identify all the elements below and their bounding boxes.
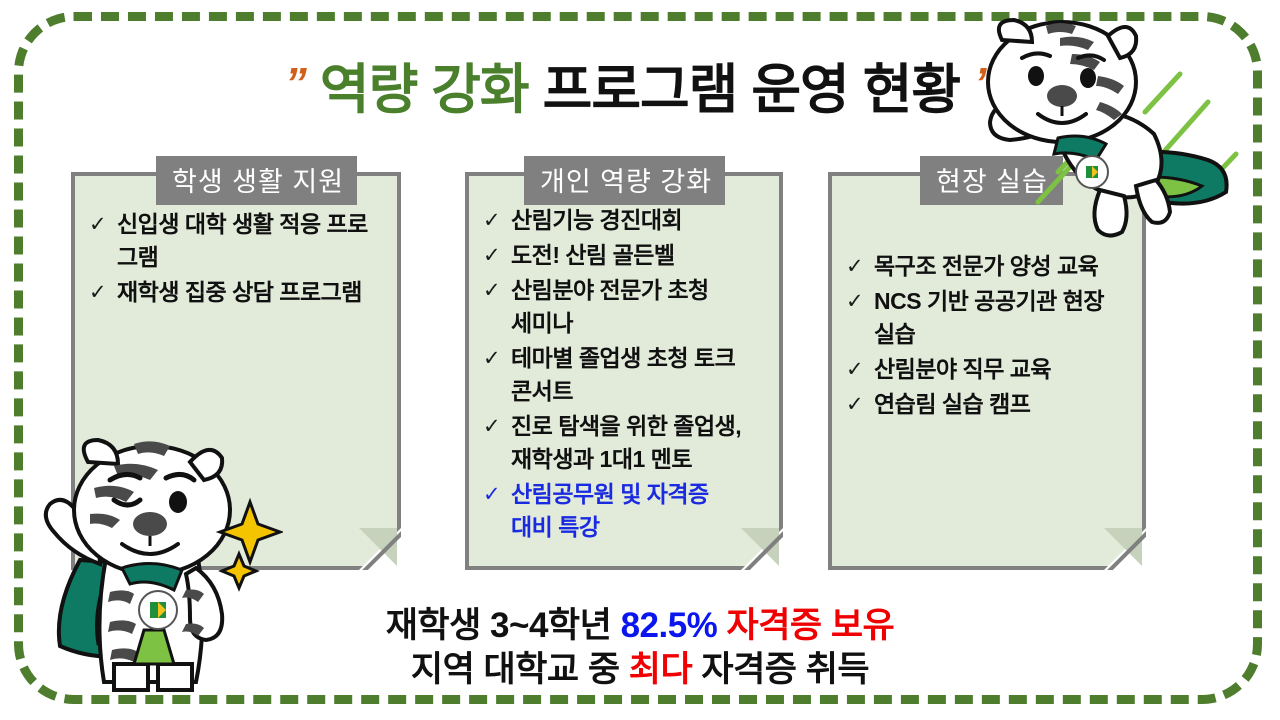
tiger-nose — [133, 512, 167, 536]
tiger-nose — [1047, 85, 1077, 107]
check-icon: ✓ — [483, 478, 511, 511]
card-header-student-life-support: 학생 생활 지원 — [156, 156, 357, 205]
bottom-line2-highlight: 최다 — [629, 650, 692, 689]
tiger-eye — [1080, 68, 1096, 88]
list-item: ✓ NCS 기반 공공기관 현장 실습 — [846, 285, 1128, 351]
check-icon: ✓ — [483, 239, 511, 272]
check-icon: ✓ — [483, 410, 511, 443]
card-header-individual-competency: 개인 역량 강화 — [524, 156, 725, 205]
list-item-label: 연습림 실습 캠프 — [874, 388, 1030, 421]
page-title-black: 프로그램 운영 현황 — [543, 60, 960, 120]
tiger-leg — [158, 664, 192, 690]
check-icon: ✓ — [89, 208, 117, 241]
bottom-line1-highlight: 자격증 보유 — [717, 606, 894, 645]
list-item-label: 재학생 집중 상담 프로그램 — [117, 276, 362, 309]
list-item: ✓ 재학생 집중 상담 프로그램 — [89, 276, 383, 309]
tiger-leg — [114, 664, 148, 690]
list-item: ✓ 산림분야 전문가 초청 세미나 — [483, 274, 765, 340]
list-item: ✓ 산림공무원 및 자격증 대비 특강 — [483, 478, 765, 544]
check-icon: ✓ — [89, 276, 117, 309]
check-icon: ✓ — [483, 274, 511, 307]
tiger-ear — [999, 20, 1032, 42]
card-individual-competency: ✓ 산림기능 경진대회 ✓ 도전! 산림 골든벨 ✓ 산림분야 전문가 초청 세… — [465, 172, 783, 570]
list-item: ✓ 진로 탐색을 위한 졸업생, 재학생과 1대1 멘토 — [483, 410, 765, 476]
list-item: ✓ 산림기능 경진대회 — [483, 204, 765, 237]
tiger-leg — [1094, 190, 1126, 236]
list-item: ✓ 도전! 산림 골든벨 — [483, 239, 765, 272]
tiger-eye — [1028, 66, 1044, 86]
list-item-label: NCS 기반 공공기관 현장 실습 — [874, 285, 1104, 351]
tiger-ear — [84, 440, 118, 464]
list-item-label: 도전! 산림 골든벨 — [511, 239, 675, 272]
check-icon: ✓ — [846, 388, 874, 421]
card-fold-edge — [343, 512, 401, 570]
bottom-line2-prefix: 지역 대학교 중 — [411, 650, 629, 689]
list-item: ✓ 산림분야 직무 교육 — [846, 353, 1128, 386]
list-item: ✓ 신입생 대학 생활 적응 프로그램 — [89, 208, 383, 274]
list-item-label: 신입생 대학 생활 적응 프로그램 — [117, 208, 383, 274]
check-icon: ✓ — [846, 285, 874, 318]
card-item-list: ✓ 산림기능 경진대회 ✓ 도전! 산림 골든벨 ✓ 산림분야 전문가 초청 세… — [483, 204, 765, 546]
check-icon: ✓ — [846, 250, 874, 283]
list-item-label: 산림분야 전문가 초청 세미나 — [511, 274, 709, 340]
card-item-list: ✓ 목구조 전문가 양성 교육 ✓ NCS 기반 공공기관 현장 실습 ✓ 산림… — [846, 250, 1128, 423]
card-item-list: ✓ 신입생 대학 생활 적응 프로그램 ✓ 재학생 집중 상담 프로그램 — [89, 208, 383, 311]
list-item-label: 진로 탐색을 위한 졸업생, 재학생과 1대1 멘토 — [511, 410, 741, 476]
quote-open-icon: ” — [285, 59, 306, 108]
list-item-label: 테마별 졸업생 초청 토크 콘서트 — [511, 342, 735, 408]
bottom-line1-percentage: 82.5% — [621, 606, 718, 645]
check-icon: ✓ — [483, 204, 511, 237]
card-fold-edge — [1088, 512, 1146, 570]
list-item-label: 산림공무원 및 자격증 대비 특강 — [511, 478, 709, 544]
standing-tiger-mascot — [18, 432, 283, 720]
list-item-label: 산림분야 직무 교육 — [874, 353, 1051, 386]
tiger-eye — [169, 491, 187, 513]
bottom-line1-prefix: 재학생 3~4학년 — [386, 606, 621, 645]
flying-tiger-mascot — [940, 14, 1260, 264]
list-item-label: 산림기능 경진대회 — [511, 204, 682, 237]
bottom-line2-suffix: 자격증 취득 — [692, 650, 869, 689]
page-title-green: 역량 강화 — [320, 60, 529, 120]
list-item: ✓ 테마별 졸업생 초청 토크 콘서트 — [483, 342, 765, 408]
check-icon: ✓ — [846, 353, 874, 386]
check-icon: ✓ — [483, 342, 511, 375]
list-item: ✓ 연습림 실습 캠프 — [846, 388, 1128, 421]
